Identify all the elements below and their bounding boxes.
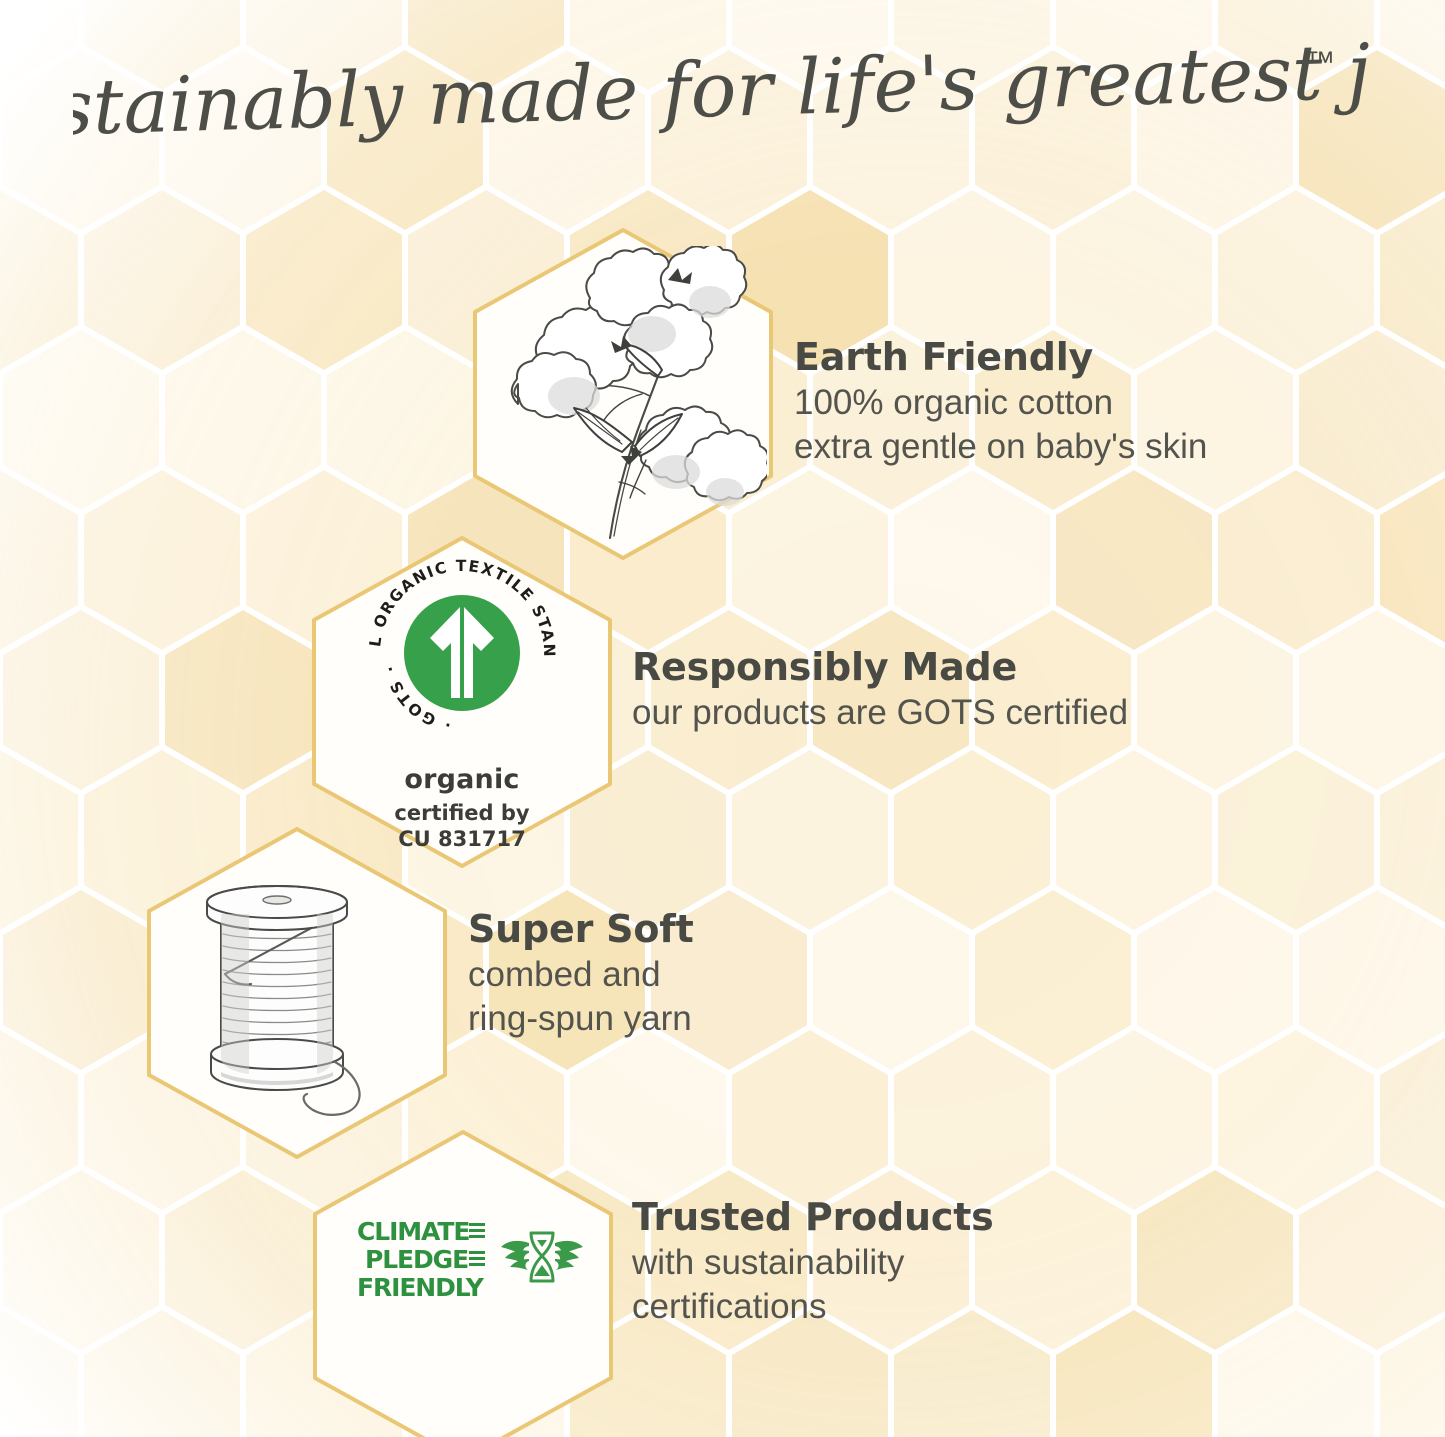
honeycomb-cell [1218, 1310, 1374, 1437]
honeycomb-cell [1056, 1310, 1212, 1437]
honeycomb-cell [3, 330, 159, 510]
gots-green-circle [404, 595, 520, 711]
honeycomb-cell [813, 890, 969, 1070]
honeycomb-cell [84, 470, 240, 650]
cpf-wordmark: CLIMATE PLEDGE FRIENDLY [357, 1218, 485, 1302]
honeycomb-cell [1137, 1170, 1293, 1350]
honeycomb-cell [1380, 470, 1445, 650]
honeycomb-cell [1218, 190, 1374, 370]
honeycomb-cell [732, 1310, 888, 1437]
cpf-line-3: FRIENDLY [357, 1273, 485, 1302]
honeycomb-cell [894, 470, 1050, 650]
trademark-symbol: ™ [1305, 46, 1335, 79]
feature-line-1: our products are GOTS certified [632, 691, 1128, 735]
page-headline: sustainably made for life's greatest joy… [0, 38, 1445, 148]
honeycomb-cell [165, 610, 321, 790]
feature-line-1: 100% organic cotton [794, 381, 1207, 425]
honeycomb-cell [1299, 890, 1445, 1070]
honeycomb-cell [1218, 1030, 1374, 1210]
honeycomb-cell [975, 1170, 1131, 1350]
cotton-boll-sketch-icon [482, 246, 767, 551]
honeycomb-cell [1380, 1310, 1445, 1437]
honeycomb-cell [0, 750, 78, 930]
headline-script-text: sustainably made for life's greatest joy… [73, 38, 1373, 148]
honeycomb-cell [3, 890, 159, 1070]
cpf-line-2: PLEDGE [365, 1245, 468, 1274]
honeycomb-cell [1218, 470, 1374, 650]
gots-organic-label: organic [332, 764, 592, 795]
honeycomb-cell [165, 1170, 321, 1350]
honeycomb-cell [84, 1310, 240, 1437]
honeycomb-cell [0, 1030, 78, 1210]
gots-certified-by: certified by CU 831717 [332, 801, 592, 852]
gots-seal-mark: GLOBAL ORGANIC TEXTILE STANDARD · GOTS · [357, 548, 567, 758]
feature-text-trusted-products: Trusted Products with sustainability cer… [632, 1196, 994, 1329]
honeycomb-cell [246, 190, 402, 370]
honeycomb-cell [894, 1310, 1050, 1437]
gots-organic-seal-icon: GLOBAL ORGANIC TEXTILE STANDARD · GOTS ·… [332, 548, 592, 852]
feature-text-super-soft: Super Soft combed and ring-spun yarn [468, 908, 694, 1041]
gots-certified-by-label: certified by [394, 801, 529, 825]
feature-line-2: certifications [632, 1285, 994, 1329]
honeycomb-cell [894, 750, 1050, 930]
honeycomb-cell [0, 190, 78, 370]
cpf-line-1: CLIMATE [357, 1218, 469, 1246]
feature-line-2: ring-spun yarn [468, 997, 694, 1041]
honeycomb-cell [1218, 750, 1374, 930]
honeycomb-cell [1056, 750, 1212, 930]
feature-title: Trusted Products [632, 1196, 994, 1239]
honeycomb-cell [84, 190, 240, 370]
feature-line-1: combed and [468, 953, 694, 997]
honeycomb-cell [894, 1030, 1050, 1210]
feature-title: Earth Friendly [794, 336, 1207, 379]
honeycomb-cell [1056, 1030, 1212, 1210]
honeycomb-cell [0, 1310, 78, 1437]
honeycomb-cell [3, 1170, 159, 1350]
climate-pledge-friendly-logo-icon: CLIMATE PLEDGE FRIENDLY [357, 1218, 585, 1302]
honeycomb-cell [1137, 890, 1293, 1070]
honeycomb-cell [1137, 610, 1293, 790]
honeycomb-cell [1299, 610, 1445, 790]
honeycomb-cell [327, 330, 483, 510]
honeycomb-cell [1056, 470, 1212, 650]
feature-text-earth-friendly: Earth Friendly 100% organic cotton extra… [794, 336, 1207, 469]
honeycomb-cell [975, 890, 1131, 1070]
honeycomb-cell [1299, 330, 1445, 510]
honeycomb-cell [732, 1030, 888, 1210]
winged-hourglass-icon [499, 1221, 585, 1300]
honeycomb-cell [0, 470, 78, 650]
honeycomb-cell [3, 610, 159, 790]
feature-text-responsibly-made: Responsibly Made our products are GOTS c… [632, 646, 1128, 735]
honeycomb-cell [165, 330, 321, 510]
honeycomb-cell [732, 750, 888, 930]
feature-title: Responsibly Made [632, 646, 1128, 689]
sustainability-infographic: sustainably made for life's greatest joy… [0, 0, 1445, 1437]
honeycomb-cell [1380, 750, 1445, 930]
gots-certifier-code: CU 831717 [398, 827, 525, 851]
feature-line-2: extra gentle on baby's skin [794, 425, 1207, 469]
feature-title: Super Soft [468, 908, 694, 951]
cpf-bar-accent [469, 1223, 485, 1266]
headline-main: sustainably made for life's greatest joy [73, 38, 1373, 148]
honeycomb-cell [1380, 190, 1445, 370]
feature-line-1: with sustainability [632, 1241, 994, 1285]
honeycomb-cell [1299, 1170, 1445, 1350]
thread-spool-sketch-icon [185, 858, 415, 1128]
honeycomb-cell [1380, 1030, 1445, 1210]
